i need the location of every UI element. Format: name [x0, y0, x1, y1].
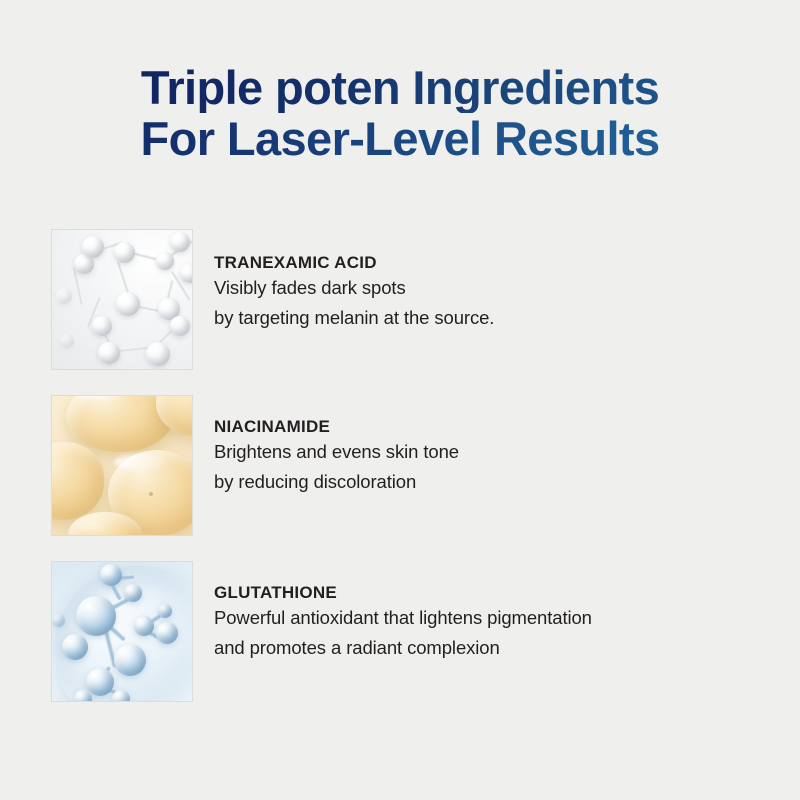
ingredient-description-line-2: by targeting melanin at the source. [214, 303, 771, 333]
atom [146, 342, 170, 366]
atom [114, 644, 146, 676]
atom [170, 232, 190, 252]
atom [56, 288, 72, 304]
atom [112, 690, 130, 701]
droplet-speck [149, 492, 153, 496]
ingredient-description-line-2: by reducing discoloration [214, 467, 771, 497]
atom [82, 236, 104, 258]
ingredient-item-niacinamide: NIACINAMIDE Brightens and evens skin ton… [51, 395, 771, 537]
atom [62, 634, 88, 660]
page-title-line-2: For Laser-Level Results [0, 113, 800, 164]
atom [92, 316, 112, 336]
ingredient-description-line-2: and promotes a radiant complexion [214, 633, 771, 663]
atom [76, 596, 116, 636]
ingredient-thumbnail-tranexamic-acid [51, 229, 193, 370]
atom [86, 668, 114, 696]
ingredient-description-line-1: Visibly fades dark spots [214, 273, 771, 303]
atom [100, 564, 122, 586]
atom [60, 334, 74, 348]
ingredients-infographic: Triple poten Ingredients For Laser-Level… [0, 0, 800, 800]
atom [180, 264, 192, 283]
droplet-highlight [114, 454, 170, 470]
atom [116, 292, 140, 316]
atom [52, 614, 65, 627]
atom [98, 342, 120, 364]
atom [114, 242, 135, 263]
water-molecule-icon [52, 562, 192, 701]
atom [170, 316, 190, 336]
serum-droplets-icon [52, 396, 192, 535]
atom [158, 604, 172, 618]
ingredient-item-glutathione: GLUTATHIONE Powerful antioxidant that li… [51, 561, 771, 703]
ingredient-text-block: NIACINAMIDE Brightens and evens skin ton… [214, 417, 771, 497]
page-title: Triple poten Ingredients For Laser-Level… [0, 62, 800, 164]
atom [156, 252, 174, 270]
ingredient-title: GLUTATHIONE [214, 583, 771, 603]
ingredient-title: NIACINAMIDE [214, 417, 771, 437]
ingredient-description-line-1: Brightens and evens skin tone [214, 437, 771, 467]
ingredient-text-block: GLUTATHIONE Powerful antioxidant that li… [214, 583, 771, 663]
ingredient-description-line-1: Powerful antioxidant that lightens pigme… [214, 603, 771, 633]
page-title-line-1: Triple poten Ingredients [0, 62, 800, 113]
atom [74, 690, 92, 701]
atom [156, 622, 178, 644]
molecular-lattice-icon [52, 230, 192, 369]
atom [124, 584, 142, 602]
ingredient-thumbnail-niacinamide [51, 395, 193, 536]
ingredient-thumbnail-glutathione [51, 561, 193, 702]
atom [134, 616, 154, 636]
ingredient-title: TRANEXAMIC ACID [214, 253, 771, 273]
ingredient-item-tranexamic-acid: TRANEXAMIC ACID Visibly fades dark spots… [51, 229, 771, 371]
ingredient-text-block: TRANEXAMIC ACID Visibly fades dark spots… [214, 253, 771, 333]
